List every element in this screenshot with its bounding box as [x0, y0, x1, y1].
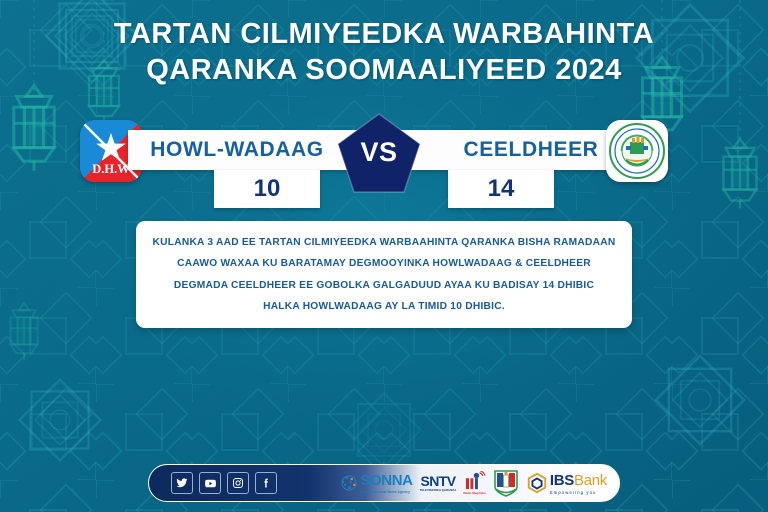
government-emblem-mark: [493, 469, 519, 497]
away-team-crest: [606, 120, 668, 182]
sntv-wordmark: SNTV: [421, 474, 456, 488]
instagram-icon[interactable]: [227, 472, 249, 494]
vs-label: VS: [336, 112, 422, 198]
ibs-tagline: Empowering you: [550, 490, 607, 495]
sonna-tagline: Somali National News Agency: [360, 490, 412, 494]
page-title: TARTAN CILMIYEEDKA WARBAHINTA QARANKA SO…: [0, 16, 768, 88]
home-score-box: 10: [214, 170, 320, 208]
ibs-wordmark-primary: IBS: [550, 472, 574, 489]
away-team-namebar: CEELDHEER: [396, 130, 640, 170]
title-line-1: TARTAN CILMIYEEDKA WARBAHINTA: [0, 16, 768, 52]
ibs-bank-logo: IBSBank Empowering you: [526, 472, 607, 495]
sonna-mark: [339, 473, 359, 493]
report-line-2: CAAWO WAXAA KU BARATAMAY DEGMOOYINKA HOW…: [177, 253, 591, 275]
away-score: 14: [488, 175, 515, 203]
twitter-icon[interactable]: [171, 472, 193, 494]
title-line-2: QARANKA SOOMAALIYEED 2024: [0, 52, 768, 88]
sponsor-logos: SONNA Somali National News Agency SNTV T…: [339, 465, 613, 501]
youtube-icon[interactable]: [199, 472, 221, 494]
home-score: 10: [254, 175, 281, 203]
ibs-wordmark-secondary: Bank: [574, 472, 607, 489]
match-scoreboard: D.H.W HOWL-WADAAG VS CEELDHEER: [0, 112, 768, 212]
home-team-name: HOWL-WADAAG: [150, 138, 323, 162]
match-report-panel: KULANKA 3 AAD EE TARTAN CILMIYEEDKA WARB…: [136, 221, 632, 328]
vs-badge: VS: [336, 112, 422, 198]
sntv-tagline: TELEVISIONKA QARANKA: [420, 488, 457, 492]
away-score-box: 14: [448, 170, 554, 208]
facebook-icon[interactable]: [255, 472, 277, 494]
radio-muqdisho-mark: [464, 471, 486, 491]
footer-bar: SONNA Somali National News Agency SNTV T…: [148, 464, 620, 502]
report-line-4: HALKA HOWLWADAAG AY LA TIMID 10 DHIBIC.: [263, 296, 505, 318]
away-team-name: CEELDHEER: [464, 138, 599, 162]
sntv-logo: SNTV TELEVISIONKA QARANKA: [420, 474, 457, 492]
government-emblem-logo: [493, 469, 519, 497]
sonna-wordmark: SONNA: [360, 472, 412, 489]
social-links: [171, 472, 277, 494]
report-line-3: DEGMADA CEELDHEER EE GOBOLKA GALGADUUD A…: [174, 275, 594, 297]
sonna-logo: SONNA Somali National News Agency: [339, 472, 412, 494]
report-line-1: KULANKA 3 AAD EE TARTAN CILMIYEEDKA WARB…: [153, 232, 616, 254]
ibs-bank-mark: [526, 472, 548, 494]
radio-muqdisho-logo: Radio Muqdisho: [463, 471, 485, 495]
home-crest-text: D.H.W: [92, 162, 130, 176]
radio-muqdisho-tagline: Radio Muqdisho: [463, 491, 485, 495]
